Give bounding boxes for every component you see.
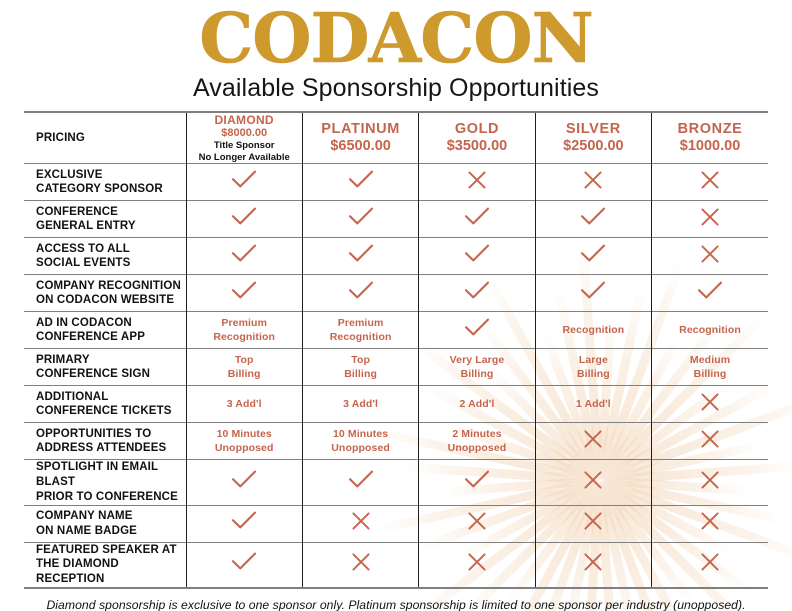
tier-price: $6500.00 [303, 138, 418, 155]
cross-icon [700, 207, 720, 227]
feature-cell [302, 164, 418, 201]
feature-label-line: GENERAL ENTRY [36, 219, 186, 234]
feature-label: ADDITIONALCONFERENCE TICKETS [24, 386, 186, 423]
feature-label-line: THE DIAMOND RECEPTION [36, 557, 186, 586]
check-icon [580, 207, 606, 227]
feature-cell [535, 542, 651, 588]
cross-icon [700, 244, 720, 264]
feature-cell [186, 164, 302, 201]
feature-cell [302, 460, 418, 505]
cell-value: Premium [187, 316, 302, 330]
feature-cell: TopBilling [302, 349, 418, 386]
feature-cell: LargeBilling [535, 349, 651, 386]
check-icon [464, 207, 490, 227]
feature-cell [652, 201, 768, 238]
tier-name: DIAMOND [187, 113, 302, 127]
feature-cell [186, 542, 302, 588]
pricing-table-body: PRICINGDIAMOND$8000.00Title SponsorNo Lo… [24, 112, 768, 588]
footnote: Diamond sponsorship is exclusive to one … [24, 598, 768, 611]
cell-value: 2 Minutes [419, 427, 534, 441]
cross-icon [700, 392, 720, 412]
codacon-wordmark: CODACON [0, 6, 792, 73]
feature-cell: Recognition [535, 312, 651, 349]
check-icon [348, 207, 374, 227]
feature-label-line: OPPORTUNITIES TO [36, 427, 186, 442]
tier-header-silver[interactable]: SILVER$2500.00 [535, 112, 651, 164]
feature-label: SPOTLIGHT IN EMAIL BLASTPRIOR TO CONFERE… [24, 460, 186, 505]
feature-label: EXCLUSIVECATEGORY SPONSOR [24, 164, 186, 201]
feature-label-line: COMPANY RECOGNITION [36, 279, 186, 294]
feature-cell [186, 505, 302, 542]
table-row: ACCESS TO ALLSOCIAL EVENTS [24, 238, 768, 275]
cell-value: Billing [652, 367, 768, 381]
cross-icon [583, 552, 603, 572]
cell-value: 2 Add'l [419, 397, 534, 411]
feature-cell [652, 542, 768, 588]
check-icon [348, 281, 374, 301]
feature-cell [302, 542, 418, 588]
feature-label-line: CONFERENCE TICKETS [36, 404, 186, 419]
pricing-table-wrapper: PRICINGDIAMOND$8000.00Title SponsorNo Lo… [16, 111, 776, 589]
page-header: CODACON Available Sponsorship Opportunit… [0, 0, 792, 103]
cross-icon [467, 170, 487, 190]
feature-cell [419, 460, 535, 505]
tier-price: $1000.00 [652, 138, 768, 155]
cell-value: 1 Add'l [536, 397, 651, 411]
feature-label-line: CONFERENCE [36, 205, 186, 220]
check-icon [580, 244, 606, 264]
feature-cell: 10 MinutesUnopposed [302, 423, 418, 460]
check-icon [231, 470, 257, 490]
check-icon [464, 244, 490, 264]
cross-icon [351, 552, 371, 572]
feature-label: ACCESS TO ALLSOCIAL EVENTS [24, 238, 186, 275]
feature-cell [652, 275, 768, 312]
feature-cell [535, 164, 651, 201]
feature-cell [535, 275, 651, 312]
cell-value: Recognition [187, 330, 302, 344]
feature-cell [535, 423, 651, 460]
cell-value: Very Large [419, 353, 534, 367]
feature-cell [652, 386, 768, 423]
tier-header-platinum[interactable]: PLATINUM$6500.00 [302, 112, 418, 164]
cross-icon [700, 470, 720, 490]
feature-cell: 10 MinutesUnopposed [186, 423, 302, 460]
check-icon [231, 552, 257, 572]
feature-cell [535, 238, 651, 275]
feature-cell [419, 275, 535, 312]
check-icon [348, 170, 374, 190]
feature-label-line: FEATURED SPEAKER AT [36, 543, 186, 558]
feature-label: COMPANY NAMEON NAME BADGE [24, 505, 186, 542]
tier-note: Title Sponsor [187, 140, 302, 152]
cross-icon [351, 511, 371, 531]
tier-name: BRONZE [652, 121, 768, 138]
cross-icon [583, 511, 603, 531]
feature-cell [419, 542, 535, 588]
cross-icon [583, 429, 603, 449]
check-icon [580, 281, 606, 301]
feature-label-line: CONFERENCE SIGN [36, 367, 186, 382]
cell-value: Unopposed [419, 441, 534, 455]
feature-cell: 3 Add'l [302, 386, 418, 423]
table-row: PRIMARYCONFERENCE SIGNTopBillingTopBilli… [24, 349, 768, 386]
cross-icon [583, 170, 603, 190]
table-row: AD IN CODACONCONFERENCE APPPremiumRecogn… [24, 312, 768, 349]
feature-label-line: SPOTLIGHT IN EMAIL BLAST [36, 460, 186, 489]
cross-icon [467, 552, 487, 572]
feature-cell [652, 238, 768, 275]
check-icon [231, 281, 257, 301]
tier-name: PLATINUM [303, 121, 418, 138]
tier-note: No Longer Available [187, 152, 302, 164]
feature-label-line: EXCLUSIVE [36, 168, 186, 183]
feature-cell: MediumBilling [652, 349, 768, 386]
feature-label: CONFERENCEGENERAL ENTRY [24, 201, 186, 238]
cell-value: Unopposed [303, 441, 418, 455]
check-icon [464, 318, 490, 338]
table-row: ADDITIONALCONFERENCE TICKETS3 Add'l3 Add… [24, 386, 768, 423]
feature-label-line: PRIOR TO CONFERENCE [36, 490, 186, 505]
feature-cell [652, 460, 768, 505]
feature-cell: 2 MinutesUnopposed [419, 423, 535, 460]
pricing-table-header-row: PRICINGDIAMOND$8000.00Title SponsorNo Lo… [24, 112, 768, 164]
feature-label-line: ADDRESS ATTENDEES [36, 441, 186, 456]
feature-cell: TopBilling [186, 349, 302, 386]
feature-cell [535, 201, 651, 238]
cross-icon [700, 552, 720, 572]
check-icon [697, 281, 723, 301]
cell-value: Recognition [652, 323, 768, 337]
feature-label-line: ADDITIONAL [36, 390, 186, 405]
cell-value: Unopposed [187, 441, 302, 455]
feature-label: AD IN CODACONCONFERENCE APP [24, 312, 186, 349]
feature-label-line: AD IN CODACON [36, 316, 186, 331]
cross-icon [467, 511, 487, 531]
feature-cell [419, 505, 535, 542]
feature-cell [186, 238, 302, 275]
feature-label-line: SOCIAL EVENTS [36, 256, 186, 271]
check-icon [231, 170, 257, 190]
cross-icon [700, 170, 720, 190]
tier-price: $2500.00 [536, 138, 651, 155]
feature-cell: PremiumRecognition [302, 312, 418, 349]
feature-cell: 3 Add'l [186, 386, 302, 423]
feature-label: COMPANY RECOGNITIONON CODACON WEBSITE [24, 275, 186, 312]
tier-header-bronze[interactable]: BRONZE$1000.00 [652, 112, 768, 164]
feature-cell [186, 460, 302, 505]
feature-cell [419, 238, 535, 275]
feature-label: FEATURED SPEAKER ATTHE DIAMOND RECEPTION [24, 542, 186, 588]
cell-value: Billing [303, 367, 418, 381]
cell-value: Top [187, 353, 302, 367]
table-row: CONFERENCEGENERAL ENTRY [24, 201, 768, 238]
feature-label-line: ON CODACON WEBSITE [36, 293, 186, 308]
feature-cell [302, 275, 418, 312]
feature-label-line: CATEGORY SPONSOR [36, 182, 186, 197]
feature-cell [186, 201, 302, 238]
feature-cell [535, 460, 651, 505]
feature-label: PRIMARYCONFERENCE SIGN [24, 349, 186, 386]
feature-cell: 1 Add'l [535, 386, 651, 423]
cross-icon [700, 429, 720, 449]
cell-value: Premium [303, 316, 418, 330]
cell-value: Billing [536, 367, 651, 381]
feature-cell [535, 505, 651, 542]
feature-cell [652, 505, 768, 542]
pricing-corner-label: PRICING [24, 112, 186, 164]
feature-cell [186, 275, 302, 312]
feature-cell [652, 164, 768, 201]
table-row: EXCLUSIVECATEGORY SPONSOR [24, 164, 768, 201]
cell-value: 10 Minutes [187, 427, 302, 441]
feature-cell [419, 312, 535, 349]
cell-value: Billing [187, 367, 302, 381]
feature-cell: Very LargeBilling [419, 349, 535, 386]
check-icon [231, 511, 257, 531]
feature-cell: PremiumRecognition [186, 312, 302, 349]
feature-cell [419, 164, 535, 201]
sponsorship-comparison-page: CODACON Available Sponsorship Opportunit… [0, 0, 792, 611]
cross-icon [700, 511, 720, 531]
cell-value: Top [303, 353, 418, 367]
feature-label: OPPORTUNITIES TOADDRESS ATTENDEES [24, 423, 186, 460]
tier-price: $3500.00 [419, 138, 534, 155]
table-row: FEATURED SPEAKER ATTHE DIAMOND RECEPTION [24, 542, 768, 588]
cell-value: Billing [419, 367, 534, 381]
check-icon [348, 244, 374, 264]
cross-icon [583, 470, 603, 490]
table-row: OPPORTUNITIES TOADDRESS ATTENDEES10 Minu… [24, 423, 768, 460]
feature-cell [302, 505, 418, 542]
tier-header-diamond[interactable]: DIAMOND$8000.00Title SponsorNo Longer Av… [186, 112, 302, 164]
feature-label-line: ACCESS TO ALL [36, 242, 186, 257]
cell-value: Large [536, 353, 651, 367]
check-icon [231, 207, 257, 227]
check-icon [464, 281, 490, 301]
feature-cell [302, 201, 418, 238]
check-icon [231, 244, 257, 264]
tier-header-gold[interactable]: GOLD$3500.00 [419, 112, 535, 164]
table-row: COMPANY RECOGNITIONON CODACON WEBSITE [24, 275, 768, 312]
table-row: SPOTLIGHT IN EMAIL BLASTPRIOR TO CONFERE… [24, 460, 768, 505]
feature-cell: 2 Add'l [419, 386, 535, 423]
feature-label-line: COMPANY NAME [36, 509, 186, 524]
feature-cell [419, 201, 535, 238]
feature-label-line: ON NAME BADGE [36, 524, 186, 539]
cell-value: 10 Minutes [303, 427, 418, 441]
cell-value: Recognition [303, 330, 418, 344]
tier-price: $8000.00 [187, 127, 302, 140]
tier-name: SILVER [536, 121, 651, 138]
feature-label-line: CONFERENCE APP [36, 330, 186, 345]
pricing-comparison-table: PRICINGDIAMOND$8000.00Title SponsorNo Lo… [24, 111, 768, 589]
table-row: COMPANY NAMEON NAME BADGE [24, 505, 768, 542]
tier-name: GOLD [419, 121, 534, 138]
feature-cell: Recognition [652, 312, 768, 349]
cell-value: Recognition [536, 323, 651, 337]
cell-value: Medium [652, 353, 768, 367]
feature-cell [302, 238, 418, 275]
feature-label-line: PRIMARY [36, 353, 186, 368]
cell-value: 3 Add'l [303, 397, 418, 411]
feature-cell [652, 423, 768, 460]
check-icon [348, 470, 374, 490]
page-subtitle: Available Sponsorship Opportunities [0, 74, 792, 103]
cell-value: 3 Add'l [187, 397, 302, 411]
check-icon [464, 470, 490, 490]
